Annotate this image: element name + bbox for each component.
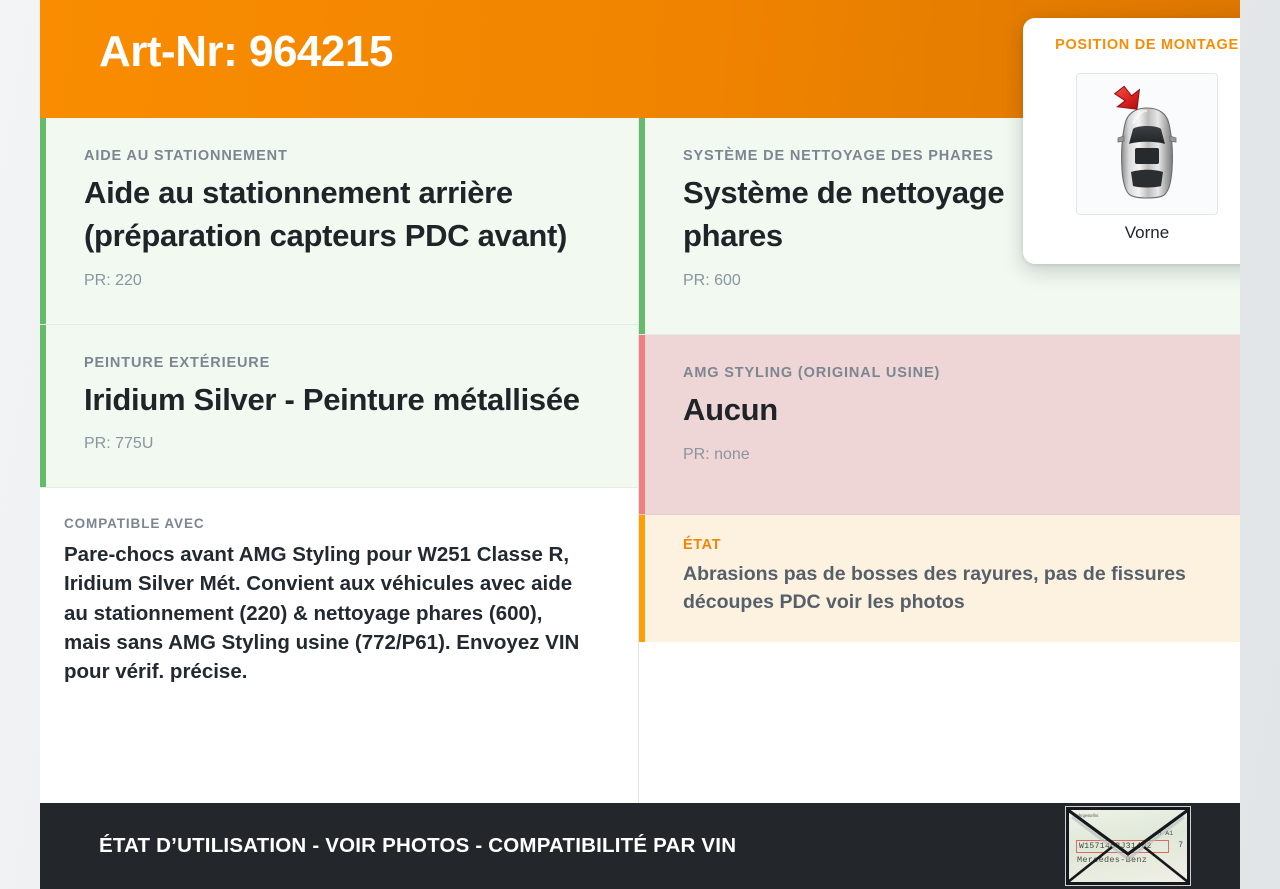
spec-card-label: PEINTURE EXTÉRIEURE <box>84 355 594 371</box>
footer-bar: ÉTAT D’UTILISATION - VOIR PHOTOS - COMPA… <box>40 803 1240 889</box>
compatibility-text: Pare-chocs avant AMG Styling pour W251 C… <box>64 540 594 686</box>
compatibility-label: COMPATIBLE AVEC <box>64 516 594 531</box>
spec-card-label: AMG STYLING (ORIGINAL USINE) <box>683 365 1196 381</box>
windshield <box>1129 126 1165 144</box>
spec-card-pr-code: PR: 600 <box>683 272 1196 290</box>
listing-sheet: Art-Nr: 964215 AIDE AU STATIONNEMENT Aid… <box>40 0 1240 889</box>
page-title: Art-Nr: 964215 <box>99 27 393 77</box>
envelope-icon <box>1066 807 1190 885</box>
mounting-position-card[interactable]: POSITION DE MONTAGE <box>1023 18 1240 264</box>
mounting-position-title: POSITION DE MONTAGE <box>1023 37 1240 53</box>
mounting-position-diagram <box>1076 73 1218 215</box>
spec-card-amg-styling[interactable]: AMG STYLING (ORIGINAL USINE) Aucun PR: n… <box>639 335 1240 515</box>
car-top-view-icon <box>1077 74 1217 214</box>
spec-card-pr-code: PR: none <box>683 446 1196 464</box>
vin-document-thumbnail[interactable]: Fahrgestellnr. H A1 W1571463J31402 7 Mer… <box>1065 806 1191 886</box>
mounting-position-caption: Vorne <box>1023 223 1240 243</box>
spec-card-pr-code: PR: 775U <box>84 435 594 453</box>
condition-label: ÉTAT <box>683 537 1196 553</box>
spec-card-value: Aide au stationnement arrière (préparati… <box>84 172 594 258</box>
roof-panel <box>1135 148 1159 164</box>
rear-window <box>1131 170 1163 188</box>
spec-card-value: Système de nettoyage phares <box>683 172 1013 258</box>
left-mirror <box>1118 136 1124 142</box>
spec-card-pr-code: PR: 220 <box>84 272 594 290</box>
spec-card-parking-aid[interactable]: AIDE AU STATIONNEMENT Aide au stationnem… <box>40 118 638 325</box>
right-mirror <box>1170 136 1176 142</box>
footer-notice: ÉTAT D’UTILISATION - VOIR PHOTOS - COMPA… <box>99 834 736 858</box>
spec-card-exterior-paint[interactable]: PEINTURE EXTÉRIEURE Iridium Silver - Pei… <box>40 325 638 489</box>
condition-text: Abrasions pas de bosses des rayures, pas… <box>683 561 1196 616</box>
compatibility-section: COMPATIBLE AVEC Pare-chocs avant AMG Sty… <box>40 488 638 716</box>
condition-card[interactable]: ÉTAT Abrasions pas de bosses des rayures… <box>639 515 1240 642</box>
spec-card-value: Iridium Silver - Peinture métallisée <box>84 379 594 422</box>
spec-card-label: AIDE AU STATIONNEMENT <box>84 148 594 164</box>
left-column: AIDE AU STATIONNEMENT Aide au stationnem… <box>40 118 639 803</box>
spec-card-value: Aucun <box>683 389 1196 432</box>
